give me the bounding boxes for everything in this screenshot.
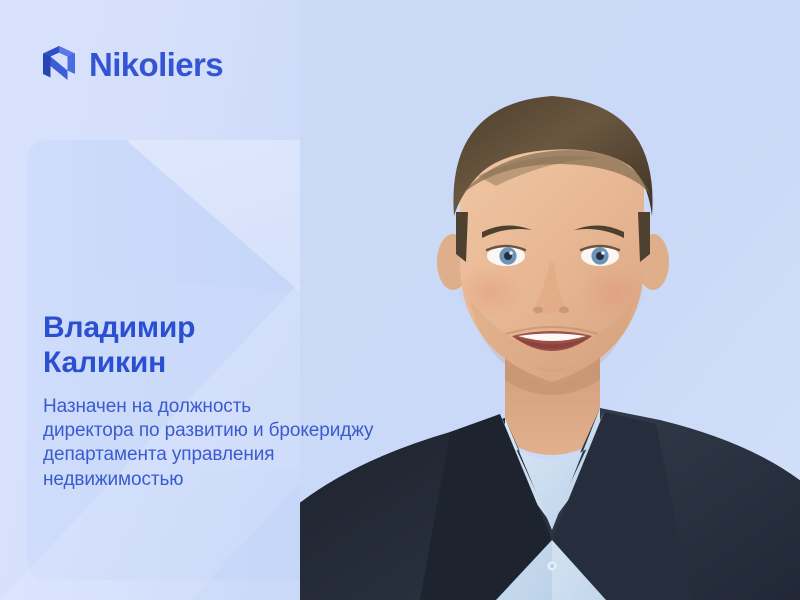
portrait-photo xyxy=(300,0,800,600)
nikoliers-cube-logo-icon xyxy=(40,44,78,84)
person-name: Владимир Каликин xyxy=(43,310,513,381)
brand-wordmark: Nikoliers xyxy=(89,48,223,81)
person-role: Назначен на должность директора по разви… xyxy=(43,395,513,492)
announcement-text: Владимир Каликин Назначен на должность д… xyxy=(43,310,513,492)
brand-logo[interactable]: Nikoliers xyxy=(40,44,223,84)
announcement-card: Nikoliers Владимир Каликин Назначен на д… xyxy=(0,0,800,600)
